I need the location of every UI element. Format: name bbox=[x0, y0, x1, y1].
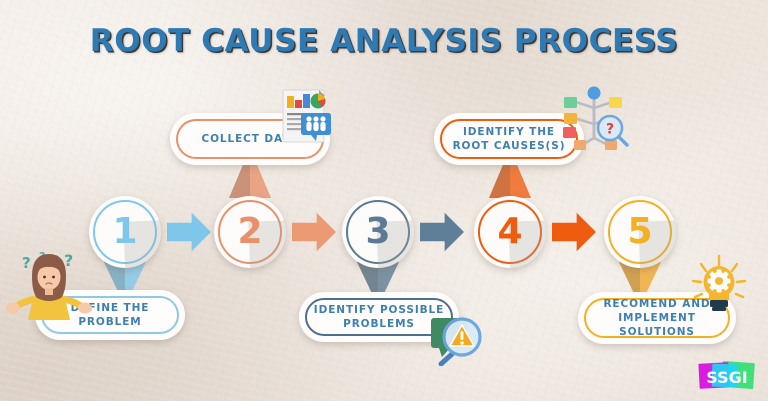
data-report-icon bbox=[275, 86, 337, 148]
svg-text:?: ? bbox=[606, 122, 614, 138]
step-number-3: 3 bbox=[365, 214, 390, 250]
step-circle-4[interactable]: 4 bbox=[474, 196, 546, 268]
arrow-2-to-3 bbox=[292, 212, 336, 252]
step-stem-4 bbox=[489, 164, 531, 198]
step-number-4: 4 bbox=[497, 214, 522, 250]
step-label-text-4: IDENTIFY THE ROOT CAUSES(S) bbox=[448, 125, 570, 153]
confused-woman-icon: ? ? ? bbox=[6, 246, 92, 320]
svg-text:?: ? bbox=[22, 254, 31, 272]
lightbulb-gear-icon bbox=[686, 254, 752, 318]
step-circle-1[interactable]: 1 bbox=[89, 196, 161, 268]
step-stem-2 bbox=[229, 164, 271, 198]
step-circle-2[interactable]: 2 bbox=[214, 196, 286, 268]
page-title: ROOT CAUSE ANALYSIS PROCESS bbox=[0, 23, 768, 59]
magnifier-warning-icon bbox=[425, 310, 487, 366]
ssgi-logo-text: SSGI bbox=[706, 368, 747, 387]
ssgi-logo[interactable]: SSGI bbox=[696, 359, 758, 393]
step-number-2: 2 bbox=[237, 214, 262, 250]
svg-text:?: ? bbox=[64, 251, 73, 270]
step-circle-3[interactable]: 3 bbox=[342, 196, 414, 268]
arrow-4-to-5 bbox=[552, 212, 596, 252]
arrow-1-to-2 bbox=[167, 212, 211, 252]
step-number-5: 5 bbox=[627, 214, 652, 250]
step-number-1: 1 bbox=[112, 214, 137, 250]
arrow-3-to-4 bbox=[420, 212, 464, 252]
fishbone-diagram-icon: ? bbox=[558, 84, 630, 152]
step-circle-5[interactable]: 5 bbox=[604, 196, 676, 268]
